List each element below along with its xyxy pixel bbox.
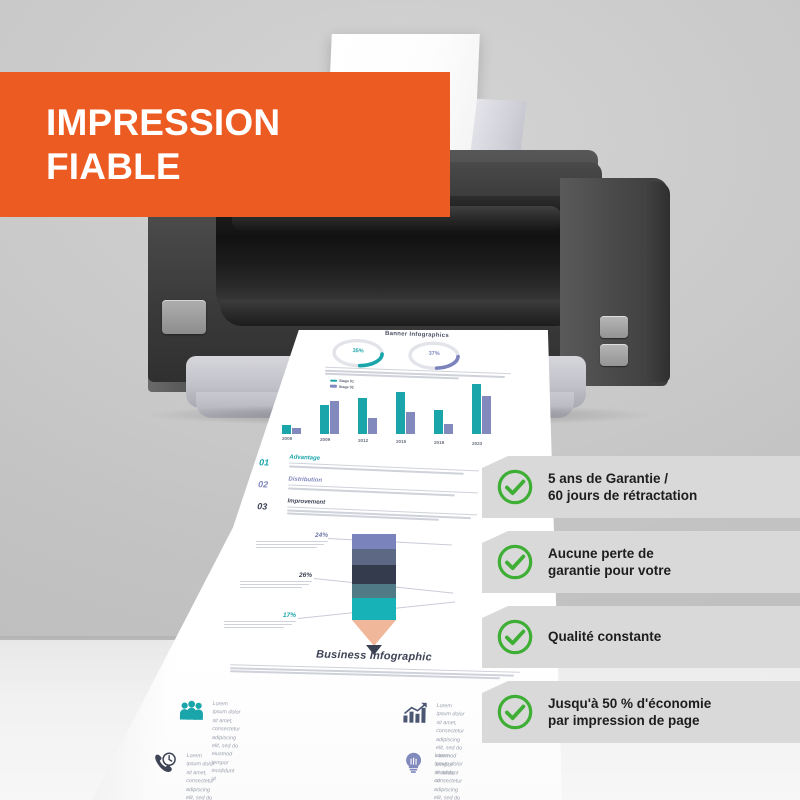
check-circle-icon (496, 693, 534, 731)
pencil-tip (352, 620, 396, 646)
x-tick-2012: 2012 (358, 438, 368, 443)
bar-chart-x-axis: 2006 2009 2012 2015 2018 2023 (282, 434, 512, 444)
funnel-section: 24% 26% 17% (228, 532, 443, 652)
printer-button-bottom[interactable] (600, 344, 628, 366)
list-number: 01 (259, 457, 269, 467)
funnel-body-lines (256, 541, 328, 549)
printer-output-lip (220, 300, 578, 326)
x-tick-2015: 2015 (396, 439, 406, 444)
bar-chart-growth-icon (402, 701, 428, 723)
icon-feature-text: Lorem ipsum dolor sit amet, consectetur … (433, 752, 462, 800)
list-number: 02 (258, 479, 268, 489)
pencil-segment-4 (352, 584, 396, 598)
lightbulb-icon (400, 751, 426, 773)
headline-line-2: FIABLE (46, 145, 450, 189)
pencil-segment-5 (352, 598, 396, 620)
icon-feature-text: Lorem ipsum dolor sit amet, consectetur … (185, 752, 214, 800)
numbered-list-section: 01 Advantage 02 Distribution 03 Improvem… (257, 453, 490, 529)
funnel-percent: 24% (256, 532, 328, 539)
funnel-percent: 17% (224, 612, 296, 619)
headline-banner: IMPRESSION FIABLE (0, 72, 450, 217)
pencil-funnel-graphic (352, 534, 396, 646)
funnel-body-lines (224, 621, 296, 629)
icon-feature-idea: Lorem ipsum dolor sit amet, consectetur … (399, 751, 462, 800)
product-marketing-image: Banner Infographics 35% 37% Stage 01 (0, 0, 800, 800)
check-circle-icon (496, 468, 534, 506)
funnel-body-lines (240, 581, 312, 589)
x-tick-2018: 2018 (434, 440, 444, 445)
feature-callout-text: Jusqu'à 50 % d'économie par impression d… (548, 695, 711, 730)
feature-callout-text: Aucune perte de garantie pour votre (548, 545, 671, 580)
list-body-lines (289, 462, 479, 476)
people-group-icon (178, 699, 204, 721)
printer-button-top[interactable] (600, 316, 628, 338)
bar-chart (282, 382, 508, 434)
donut-chart-1: 35% (330, 337, 387, 369)
headline-line-1: IMPRESSION (46, 101, 450, 145)
pencil-segment-2 (352, 549, 396, 565)
printer-left-button[interactable] (162, 300, 206, 334)
check-circle-icon (496, 543, 534, 581)
icon-feature-support: Lorem ipsum dolor sit amet, consectetur … (151, 751, 214, 800)
list-number: 03 (257, 501, 267, 511)
x-tick-2023: 2023 (472, 441, 482, 446)
donut-chart-2: 37% (406, 340, 463, 372)
list-body-lines (288, 484, 478, 498)
feature-callout-list: 5 ans de Garantie / 60 jours de rétracta… (482, 456, 800, 756)
funnel-percent: 26% (240, 572, 312, 579)
feature-callout-quality[interactable]: Qualité constante (482, 606, 800, 668)
feature-callout-text: 5 ans de Garantie / 60 jours de rétracta… (548, 470, 697, 505)
funnel-label-1: 24% (256, 532, 328, 550)
icon-feature-text: Lorem ipsum dolor sit amet, consectetur … (211, 700, 240, 784)
list-heading: Improvement (287, 498, 325, 506)
pencil-segment-1 (352, 534, 396, 549)
list-heading: Distribution (288, 476, 322, 483)
list-heading: Advantage (289, 454, 320, 461)
feature-callout-text: Qualité constante (548, 628, 661, 645)
x-tick-2009: 2009 (320, 437, 330, 442)
feature-callout-warranty[interactable]: 5 ans de Garantie / 60 jours de rétracta… (482, 456, 800, 518)
phone-clock-icon (152, 751, 178, 773)
check-circle-icon (496, 618, 534, 656)
funnel-label-2: 26% (240, 572, 312, 590)
feature-callout-savings[interactable]: Jusqu'à 50 % d'économie par impression d… (482, 681, 800, 743)
printer-right-edge (644, 182, 670, 382)
list-body-lines (287, 506, 477, 524)
funnel-label-3: 17% (224, 612, 296, 630)
feature-callout-no-warranty-loss[interactable]: Aucune perte de garantie pour votre (482, 531, 800, 593)
pencil-segment-3 (352, 565, 396, 584)
x-tick-2006: 2006 (282, 436, 292, 441)
